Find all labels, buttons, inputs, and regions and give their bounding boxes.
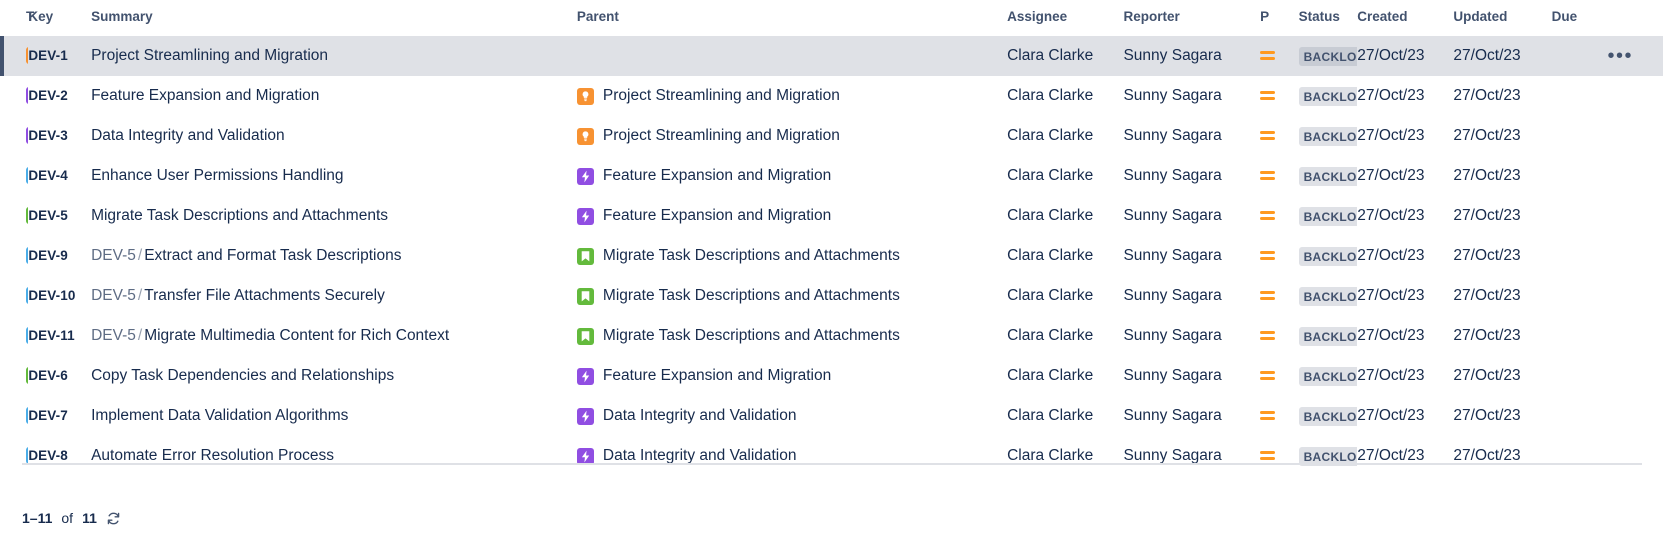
created-date: 27/Oct/23 [1357, 47, 1424, 64]
reporter-name: Sunny Sagara [1123, 407, 1221, 424]
story-icon [26, 207, 28, 224]
cell-issue-key: DEV-6 [28, 356, 91, 396]
issue-key-link[interactable]: DEV-2 [28, 88, 68, 103]
cell-assignee: Clara Clarke [1007, 36, 1123, 76]
issue-summary-link[interactable]: Automate Error Resolution Process [91, 447, 334, 464]
parent-link[interactable]: Migrate Task Descriptions and Attachment… [603, 287, 900, 305]
cell-priority [1260, 156, 1298, 196]
epic-icon [577, 368, 594, 385]
reporter-name: Sunny Sagara [1123, 127, 1221, 144]
assignee-name: Clara Clarke [1007, 127, 1093, 144]
subtask-icon [26, 287, 28, 304]
priority-medium-icon[interactable] [1260, 330, 1275, 341]
cell-reporter: Sunny Sagara [1123, 276, 1260, 316]
cell-priority [1260, 116, 1298, 156]
cell-issue-type [0, 236, 28, 276]
cell-parent: Feature Expansion and Migration [577, 196, 1007, 236]
cell-issue-key: DEV-7 [28, 396, 91, 436]
cell-parent: Migrate Task Descriptions and Attachment… [577, 236, 1007, 276]
cell-summary: Automate Error Resolution Process [91, 436, 577, 476]
pagination-footer: 1–11 of 11 [22, 510, 121, 526]
cell-issue-type [0, 316, 28, 356]
priority-medium-icon[interactable] [1260, 370, 1275, 381]
cell-parent [577, 36, 1007, 76]
cell-reporter: Sunny Sagara [1123, 116, 1260, 156]
cell-issue-key: DEV-3 [28, 116, 91, 156]
cell-issue-type [0, 156, 28, 196]
row-actions-menu-icon[interactable]: ••• [1552, 51, 1663, 61]
parent-link[interactable]: Project Streamlining and Migration [603, 127, 840, 145]
updated-date: 27/Oct/23 [1453, 367, 1520, 384]
table-row[interactable]: DEV-9DEV-5/Extract and Format Task Descr… [0, 236, 1663, 276]
cell-issue-key: DEV-5 [28, 196, 91, 236]
epic-icon [26, 127, 28, 144]
issue-key-link[interactable]: DEV-11 [28, 328, 74, 343]
issue-key-link[interactable]: DEV-4 [28, 168, 68, 183]
table-bottom-divider [22, 463, 1642, 465]
cell-updated: 27/Oct/23 [1453, 196, 1551, 236]
cell-status: BACKLOG [1299, 76, 1358, 116]
cell-status: BACKLOG [1299, 316, 1358, 356]
status-badge[interactable]: BACKLOG [1299, 47, 1358, 66]
cell-summary: Data Integrity and Validation [91, 116, 577, 156]
task-icon [26, 407, 28, 424]
cell-summary: DEV-5/Transfer File Attachments Securely [91, 276, 577, 316]
issue-summary-link[interactable]: Transfer File Attachments Securely [144, 287, 385, 304]
subtask-separator: / [136, 287, 144, 304]
parent-link[interactable]: Data Integrity and Validation [603, 407, 797, 425]
cell-due [1552, 236, 1663, 276]
reporter-name: Sunny Sagara [1123, 287, 1221, 304]
created-date: 27/Oct/23 [1357, 127, 1424, 144]
table-row[interactable]: DEV-2Feature Expansion and MigrationProj… [0, 76, 1663, 116]
cell-due: ••• [1552, 36, 1663, 76]
cell-reporter: Sunny Sagara [1123, 396, 1260, 436]
issue-summary-link[interactable]: Copy Task Dependencies and Relationships [91, 367, 394, 384]
cell-issue-type [0, 356, 28, 396]
updated-date: 27/Oct/23 [1453, 447, 1520, 464]
idea-icon [577, 88, 594, 105]
cell-due [1552, 76, 1663, 116]
parent-link[interactable]: Feature Expansion and Migration [603, 167, 831, 185]
cell-parent: Migrate Task Descriptions and Attachment… [577, 276, 1007, 316]
reporter-name: Sunny Sagara [1123, 327, 1221, 344]
cell-issue-key: DEV-9 [28, 236, 91, 276]
reporter-name: Sunny Sagara [1123, 207, 1221, 224]
assignee-name: Clara Clarke [1007, 247, 1093, 264]
status-badge[interactable]: BACKLOG [1299, 327, 1358, 346]
cell-assignee: Clara Clarke [1007, 436, 1123, 476]
cell-priority [1260, 316, 1298, 356]
priority-medium-icon[interactable] [1260, 210, 1275, 221]
issue-key-link[interactable]: DEV-5 [28, 208, 68, 223]
issue-list-table: T Key Summary Parent Assignee Reporter P… [0, 0, 1663, 476]
cell-priority [1260, 36, 1298, 76]
cell-reporter: Sunny Sagara [1123, 356, 1260, 396]
epic-icon [577, 168, 594, 185]
reporter-name: Sunny Sagara [1123, 447, 1221, 464]
subtask-separator: / [136, 327, 144, 344]
cell-reporter: Sunny Sagara [1123, 316, 1260, 356]
subtask-icon [26, 247, 28, 264]
parent-link[interactable]: Feature Expansion and Migration [603, 207, 831, 225]
column-header-summary[interactable]: Summary [91, 0, 577, 36]
cell-assignee: Clara Clarke [1007, 276, 1123, 316]
assignee-name: Clara Clarke [1007, 167, 1093, 184]
assignee-name: Clara Clarke [1007, 367, 1093, 384]
story-icon [26, 367, 28, 384]
reporter-name: Sunny Sagara [1123, 367, 1221, 384]
issue-key-link[interactable]: DEV-9 [28, 248, 68, 263]
cell-summary: Project Streamlining and Migration [91, 36, 577, 76]
idea-icon [577, 128, 594, 145]
cell-due [1552, 316, 1663, 356]
updated-date: 27/Oct/23 [1453, 327, 1520, 344]
refresh-icon[interactable] [106, 511, 121, 526]
created-date: 27/Oct/23 [1357, 287, 1424, 304]
cell-assignee: Clara Clarke [1007, 116, 1123, 156]
parent-link[interactable]: Feature Expansion and Migration [603, 367, 831, 385]
table-row[interactable]: DEV-5Migrate Task Descriptions and Attac… [0, 196, 1663, 236]
created-date: 27/Oct/23 [1357, 247, 1424, 264]
cell-issue-key: DEV-10 [28, 276, 91, 316]
cell-issue-key: DEV-4 [28, 156, 91, 196]
cell-assignee: Clara Clarke [1007, 156, 1123, 196]
cell-summary: DEV-5/Migrate Multimedia Content for Ric… [91, 316, 577, 356]
table-row[interactable]: DEV-6Copy Task Dependencies and Relation… [0, 356, 1663, 396]
column-header-updated[interactable]: Updated [1453, 0, 1551, 36]
priority-medium-icon[interactable] [1260, 410, 1275, 421]
status-badge[interactable]: BACKLOG [1299, 87, 1358, 106]
task-icon [26, 167, 28, 184]
status-badge[interactable]: BACKLOG [1299, 407, 1358, 426]
cell-assignee: Clara Clarke [1007, 76, 1123, 116]
cell-due [1552, 396, 1663, 436]
updated-date: 27/Oct/23 [1453, 127, 1520, 144]
created-date: 27/Oct/23 [1357, 87, 1424, 104]
cell-updated: 27/Oct/23 [1453, 396, 1551, 436]
column-header-parent[interactable]: Parent [577, 0, 1007, 36]
assignee-name: Clara Clarke [1007, 207, 1093, 224]
cell-updated: 27/Oct/23 [1453, 36, 1551, 76]
cell-summary: Copy Task Dependencies and Relationships [91, 356, 577, 396]
cell-status: BACKLOG [1299, 276, 1358, 316]
column-header-type[interactable]: T [0, 0, 28, 36]
cell-assignee: Clara Clarke [1007, 236, 1123, 276]
table-header: T Key Summary Parent Assignee Reporter P… [0, 0, 1663, 36]
issue-key-link[interactable]: DEV-10 [28, 288, 75, 303]
cell-summary: Migrate Task Descriptions and Attachment… [91, 196, 577, 236]
story-icon [577, 248, 594, 265]
status-badge[interactable]: BACKLOG [1299, 127, 1358, 146]
cell-created: 27/Oct/23 [1357, 236, 1453, 276]
issue-key-link[interactable]: DEV-1 [28, 48, 68, 63]
cell-issue-key: DEV-8 [28, 436, 91, 476]
updated-date: 27/Oct/23 [1453, 287, 1520, 304]
cell-status: BACKLOG [1299, 116, 1358, 156]
status-badge[interactable]: BACKLOG [1299, 367, 1358, 386]
updated-date: 27/Oct/23 [1453, 87, 1520, 104]
cell-issue-type [0, 396, 28, 436]
cell-due [1552, 156, 1663, 196]
table-row[interactable]: DEV-1Project Streamlining and MigrationC… [0, 36, 1663, 76]
cell-status: BACKLOG [1299, 156, 1358, 196]
cell-due [1552, 436, 1663, 476]
cell-parent: Feature Expansion and Migration [577, 356, 1007, 396]
cell-updated: 27/Oct/23 [1453, 436, 1551, 476]
cell-created: 27/Oct/23 [1357, 356, 1453, 396]
cell-reporter: Sunny Sagara [1123, 76, 1260, 116]
cell-due [1552, 116, 1663, 156]
cell-assignee: Clara Clarke [1007, 196, 1123, 236]
issue-summary-link[interactable]: Enhance User Permissions Handling [91, 167, 343, 184]
task-icon [26, 447, 28, 464]
cell-created: 27/Oct/23 [1357, 396, 1453, 436]
updated-date: 27/Oct/23 [1453, 407, 1520, 424]
table-row[interactable]: DEV-7Implement Data Validation Algorithm… [0, 396, 1663, 436]
cell-reporter: Sunny Sagara [1123, 236, 1260, 276]
created-date: 27/Oct/23 [1357, 407, 1424, 424]
subtask-parent-key[interactable]: DEV-5 [91, 327, 136, 344]
subtask-parent-key[interactable]: DEV-5 [91, 287, 136, 304]
cell-created: 27/Oct/23 [1357, 116, 1453, 156]
cell-status: BACKLOG [1299, 236, 1358, 276]
table-body: DEV-1Project Streamlining and MigrationC… [0, 36, 1663, 476]
cell-status: BACKLOG [1299, 396, 1358, 436]
cell-status: BACKLOG [1299, 436, 1358, 476]
assignee-name: Clara Clarke [1007, 287, 1093, 304]
cell-issue-key: DEV-2 [28, 76, 91, 116]
cell-issue-type [0, 276, 28, 316]
cell-status: BACKLOG [1299, 356, 1358, 396]
cell-summary: Feature Expansion and Migration [91, 76, 577, 116]
cell-parent: Data Integrity and Validation [577, 396, 1007, 436]
cell-updated: 27/Oct/23 [1453, 236, 1551, 276]
subtask-icon [26, 327, 28, 344]
subtask-parent-key[interactable]: DEV-5 [91, 247, 136, 264]
updated-date: 27/Oct/23 [1453, 47, 1520, 64]
created-date: 27/Oct/23 [1357, 367, 1424, 384]
cell-reporter: Sunny Sagara [1123, 196, 1260, 236]
cell-parent: Project Streamlining and Migration [577, 116, 1007, 156]
epic-icon [577, 208, 594, 225]
cell-status: BACKLOG [1299, 36, 1358, 76]
status-badge[interactable]: BACKLOG [1299, 287, 1358, 306]
priority-medium-icon[interactable] [1260, 90, 1275, 101]
cell-assignee: Clara Clarke [1007, 316, 1123, 356]
cell-created: 27/Oct/23 [1357, 276, 1453, 316]
cell-summary: Implement Data Validation Algorithms [91, 396, 577, 436]
issue-summary-link[interactable]: Implement Data Validation Algorithms [91, 407, 348, 424]
updated-date: 27/Oct/23 [1453, 247, 1520, 264]
pagination-total: 11 [82, 510, 97, 526]
pagination-of: of [61, 510, 73, 526]
updated-date: 27/Oct/23 [1453, 167, 1520, 184]
reporter-name: Sunny Sagara [1123, 87, 1221, 104]
issue-summary-link[interactable]: Extract and Format Task Descriptions [144, 247, 401, 264]
story-icon [577, 288, 594, 305]
priority-medium-icon[interactable] [1260, 450, 1275, 461]
created-date: 27/Oct/23 [1357, 327, 1424, 344]
cell-parent: Data Integrity and Validation [577, 436, 1007, 476]
cell-issue-type [0, 196, 28, 236]
created-date: 27/Oct/23 [1357, 207, 1424, 224]
column-header-status[interactable]: Status [1299, 0, 1358, 36]
cell-updated: 27/Oct/23 [1453, 116, 1551, 156]
cell-updated: 27/Oct/23 [1453, 156, 1551, 196]
subtask-separator: / [136, 247, 144, 264]
cell-priority [1260, 396, 1298, 436]
cell-created: 27/Oct/23 [1357, 156, 1453, 196]
cell-parent: Migrate Task Descriptions and Attachment… [577, 316, 1007, 356]
cell-status: BACKLOG [1299, 196, 1358, 236]
priority-medium-icon[interactable] [1260, 50, 1275, 61]
idea-icon [26, 47, 28, 64]
assignee-name: Clara Clarke [1007, 47, 1093, 64]
table-row[interactable]: DEV-4Enhance User Permissions HandlingFe… [0, 156, 1663, 196]
column-header-created[interactable]: Created [1357, 0, 1453, 36]
cell-updated: 27/Oct/23 [1453, 356, 1551, 396]
table-row[interactable]: DEV-8Automate Error Resolution ProcessDa… [0, 436, 1663, 476]
cell-assignee: Clara Clarke [1007, 396, 1123, 436]
epic-icon [26, 87, 28, 104]
pagination-range: 1–11 [22, 510, 52, 526]
cell-priority [1260, 76, 1298, 116]
header-row: T Key Summary Parent Assignee Reporter P… [0, 0, 1663, 36]
assignee-name: Clara Clarke [1007, 407, 1093, 424]
cell-created: 27/Oct/23 [1357, 196, 1453, 236]
assignee-name: Clara Clarke [1007, 447, 1093, 464]
issue-summary-link[interactable]: Migrate Multimedia Content for Rich Cont… [144, 327, 449, 344]
table-row[interactable]: DEV-10DEV-5/Transfer File Attachments Se… [0, 276, 1663, 316]
cell-assignee: Clara Clarke [1007, 356, 1123, 396]
cell-priority [1260, 236, 1298, 276]
created-date: 27/Oct/23 [1357, 167, 1424, 184]
cell-parent: Project Streamlining and Migration [577, 76, 1007, 116]
updated-date: 27/Oct/23 [1453, 207, 1520, 224]
cell-issue-type [0, 436, 28, 476]
issue-summary-link[interactable]: Data Integrity and Validation [91, 127, 285, 144]
reporter-name: Sunny Sagara [1123, 47, 1221, 64]
cell-created: 27/Oct/23 [1357, 76, 1453, 116]
created-date: 27/Oct/23 [1357, 447, 1424, 464]
table-row[interactable]: DEV-3Data Integrity and ValidationProjec… [0, 116, 1663, 156]
cell-due [1552, 196, 1663, 236]
priority-medium-icon[interactable] [1260, 250, 1275, 261]
cell-created: 27/Oct/23 [1357, 36, 1453, 76]
issue-key-link[interactable]: DEV-8 [28, 448, 68, 463]
cell-created: 27/Oct/23 [1357, 436, 1453, 476]
cell-due [1552, 276, 1663, 316]
column-header-assignee[interactable]: Assignee [1007, 0, 1123, 36]
priority-medium-icon[interactable] [1260, 130, 1275, 141]
issue-summary-link[interactable]: Migrate Task Descriptions and Attachment… [91, 207, 388, 224]
cell-priority [1260, 356, 1298, 396]
epic-icon [577, 448, 594, 465]
column-header-key[interactable]: Key [28, 0, 91, 36]
issue-key-link[interactable]: DEV-7 [28, 408, 68, 423]
table-row[interactable]: DEV-11DEV-5/Migrate Multimedia Content f… [0, 316, 1663, 356]
priority-medium-icon[interactable] [1260, 170, 1275, 181]
cell-parent: Feature Expansion and Migration [577, 156, 1007, 196]
parent-link[interactable]: Migrate Task Descriptions and Attachment… [603, 247, 900, 265]
assignee-name: Clara Clarke [1007, 327, 1093, 344]
reporter-name: Sunny Sagara [1123, 247, 1221, 264]
assignee-name: Clara Clarke [1007, 87, 1093, 104]
column-header-due[interactable]: Due [1552, 0, 1663, 36]
cell-updated: 27/Oct/23 [1453, 276, 1551, 316]
cell-issue-key: DEV-1 [28, 36, 91, 76]
issue-key-link[interactable]: DEV-3 [28, 128, 68, 143]
cell-updated: 27/Oct/23 [1453, 316, 1551, 356]
status-badge[interactable]: BACKLOG [1299, 207, 1358, 226]
cell-reporter: Sunny Sagara [1123, 436, 1260, 476]
cell-updated: 27/Oct/23 [1453, 76, 1551, 116]
cell-summary: Enhance User Permissions Handling [91, 156, 577, 196]
cell-priority [1260, 436, 1298, 476]
cell-reporter: Sunny Sagara [1123, 36, 1260, 76]
cell-due [1552, 356, 1663, 396]
cell-priority [1260, 276, 1298, 316]
issue-summary-link[interactable]: Project Streamlining and Migration [91, 47, 328, 64]
parent-link[interactable]: Project Streamlining and Migration [603, 87, 840, 105]
cell-priority [1260, 196, 1298, 236]
priority-medium-icon[interactable] [1260, 290, 1275, 301]
status-badge[interactable]: BACKLOG [1299, 167, 1358, 186]
cell-issue-key: DEV-11 [28, 316, 91, 356]
issue-summary-link[interactable]: Feature Expansion and Migration [91, 87, 319, 104]
column-header-reporter[interactable]: Reporter [1123, 0, 1260, 36]
parent-link[interactable]: Migrate Task Descriptions and Attachment… [603, 327, 900, 345]
cell-issue-type [0, 116, 28, 156]
cell-summary: DEV-5/Extract and Format Task Descriptio… [91, 236, 577, 276]
story-icon [577, 328, 594, 345]
column-header-priority[interactable]: P [1260, 0, 1298, 36]
cell-created: 27/Oct/23 [1357, 316, 1453, 356]
cell-issue-type [0, 36, 28, 76]
cell-reporter: Sunny Sagara [1123, 156, 1260, 196]
reporter-name: Sunny Sagara [1123, 167, 1221, 184]
status-badge[interactable]: BACKLOG [1299, 247, 1358, 266]
epic-icon [577, 408, 594, 425]
cell-issue-type [0, 76, 28, 116]
issue-key-link[interactable]: DEV-6 [28, 368, 68, 383]
